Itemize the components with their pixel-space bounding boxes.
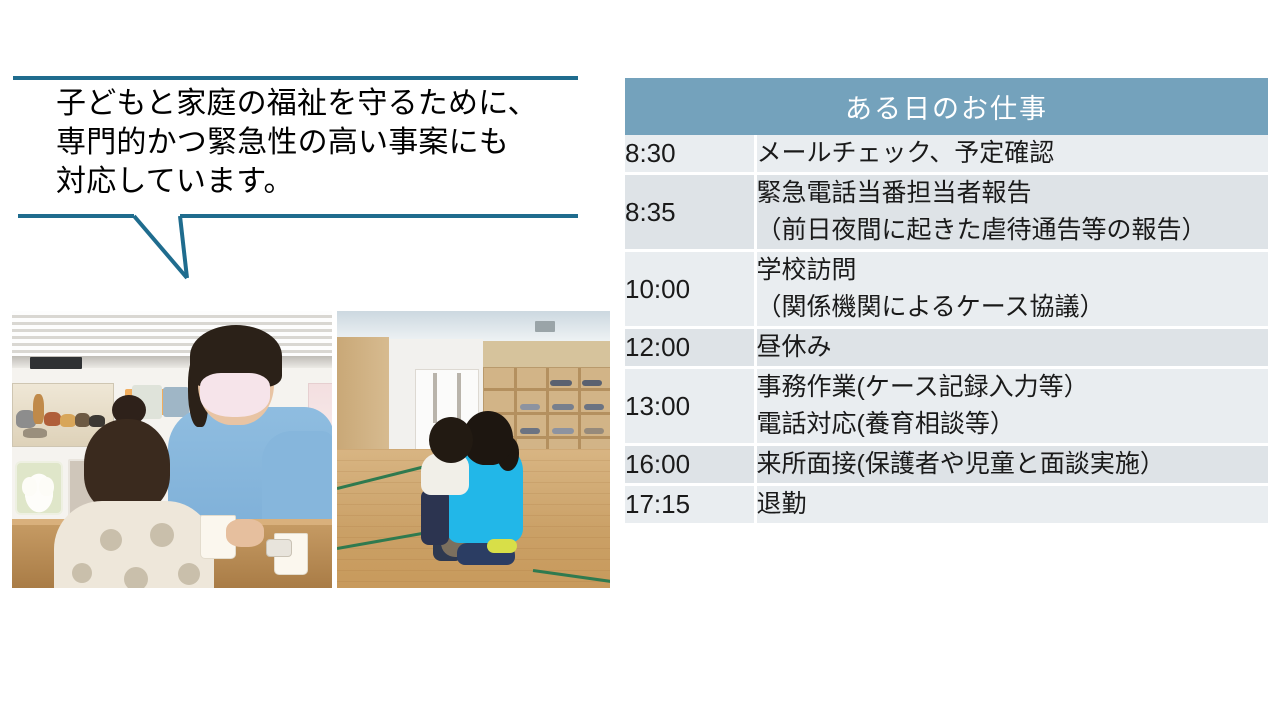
schedule-task-line: 事務作業(ケース記録入力等） — [757, 369, 1269, 406]
ceiling-vent — [535, 321, 555, 332]
callout-box: 子どもと家庭の福祉を守るために、 専門的かつ緊急性の高い事案にも 対応しています… — [0, 0, 600, 300]
schedule-task-cell: 退勤 — [755, 485, 1268, 525]
schedule-title: ある日のお仕事 — [625, 78, 1268, 135]
callout-top-rule — [13, 76, 578, 80]
schedule-task-line: 退勤 — [757, 486, 1269, 523]
schedule-task-line: メールチェック、予定確認 — [757, 135, 1269, 172]
schedule-time-cell: 8:35 — [625, 174, 755, 251]
schedule-header-row: ある日のお仕事 — [625, 78, 1268, 135]
schedule-task-cell: メールチェック、予定確認 — [755, 135, 1268, 174]
table-row: 8:30メールチェック、予定確認 — [625, 135, 1268, 174]
schedule-task-cell: 事務作業(ケース記録入力等）電話対応(養育相談等） — [755, 368, 1268, 445]
schedule-time-cell: 8:30 — [625, 135, 755, 174]
face-mask — [200, 373, 270, 417]
callout-tail-pointer — [110, 210, 220, 290]
schedule-task-cell: 学校訪問（関係機関によるケース協議） — [755, 251, 1268, 328]
table-row: 16:00来所面接(保護者や児童と面談実施） — [625, 445, 1268, 485]
callout-bottom-rule-right — [180, 214, 578, 218]
schedule-time-cell: 13:00 — [625, 368, 755, 445]
wristwatch — [266, 539, 292, 557]
schedule-body: 8:30メールチェック、予定確認8:35緊急電話当番担当者報告（前日夜間に起きた… — [625, 135, 1268, 525]
schedule-task-line: 緊急電話当番担当者報告 — [757, 175, 1269, 212]
schedule-time-cell: 12:00 — [625, 328, 755, 368]
schedule-time-cell: 16:00 — [625, 445, 755, 485]
schedule-task-cell: 昼休み — [755, 328, 1268, 368]
schedule-time-cell: 10:00 — [625, 251, 755, 328]
staff-hand — [226, 519, 264, 547]
schedule-task-line: 来所面接(保護者や児童と面談実施） — [757, 446, 1269, 483]
child-legs — [421, 489, 449, 545]
schedule-task-line: 電話対応(養育相談等） — [757, 406, 1269, 443]
wall-card-2 — [163, 387, 189, 417]
schedule-task-line: 学校訪問 — [757, 252, 1269, 289]
table-row: 12:00昼休み — [625, 328, 1268, 368]
daily-schedule-table: ある日のお仕事 8:30メールチェック、予定確認8:35緊急電話当番担当者報告（… — [625, 78, 1268, 526]
child-head — [84, 419, 170, 513]
schedule-task-cell: 緊急電話当番担当者報告（前日夜間に起きた虐待通告等の報告） — [755, 174, 1268, 251]
table-row: 13:00事務作業(ケース記録入力等）電話対応(養育相談等） — [625, 368, 1268, 445]
staff-shoulder — [262, 431, 332, 531]
schedule-task-line: （前日夜間に起きた虐待通告等の報告） — [757, 212, 1269, 249]
callout-text: 子どもと家庭の福祉を守るために、 専門的かつ緊急性の高い事案にも 対応しています… — [56, 84, 586, 201]
wall-panel — [30, 357, 82, 369]
puppy-photo-cutout — [15, 461, 63, 515]
schedule-time-cell: 17:15 — [625, 485, 755, 525]
photo-staff-and-child-at-table — [12, 311, 332, 588]
schedule-task-line: （関係機関によるケース協議） — [757, 289, 1269, 326]
table-row: 17:15退勤 — [625, 485, 1268, 525]
child-head — [429, 417, 473, 463]
table-row: 10:00学校訪問（関係機関によるケース協議） — [625, 251, 1268, 328]
photo-strip — [12, 311, 610, 588]
schedule-task-cell: 来所面接(保護者や児童と面談実施） — [755, 445, 1268, 485]
schedule-task-line: 昼休み — [757, 329, 1269, 366]
gym-wall-left — [337, 337, 389, 455]
shoe-accent — [487, 539, 517, 553]
photo-staff-holding-child-in-gym — [337, 311, 610, 588]
table-row: 8:35緊急電話当番担当者報告（前日夜間に起きた虐待通告等の報告） — [625, 174, 1268, 251]
